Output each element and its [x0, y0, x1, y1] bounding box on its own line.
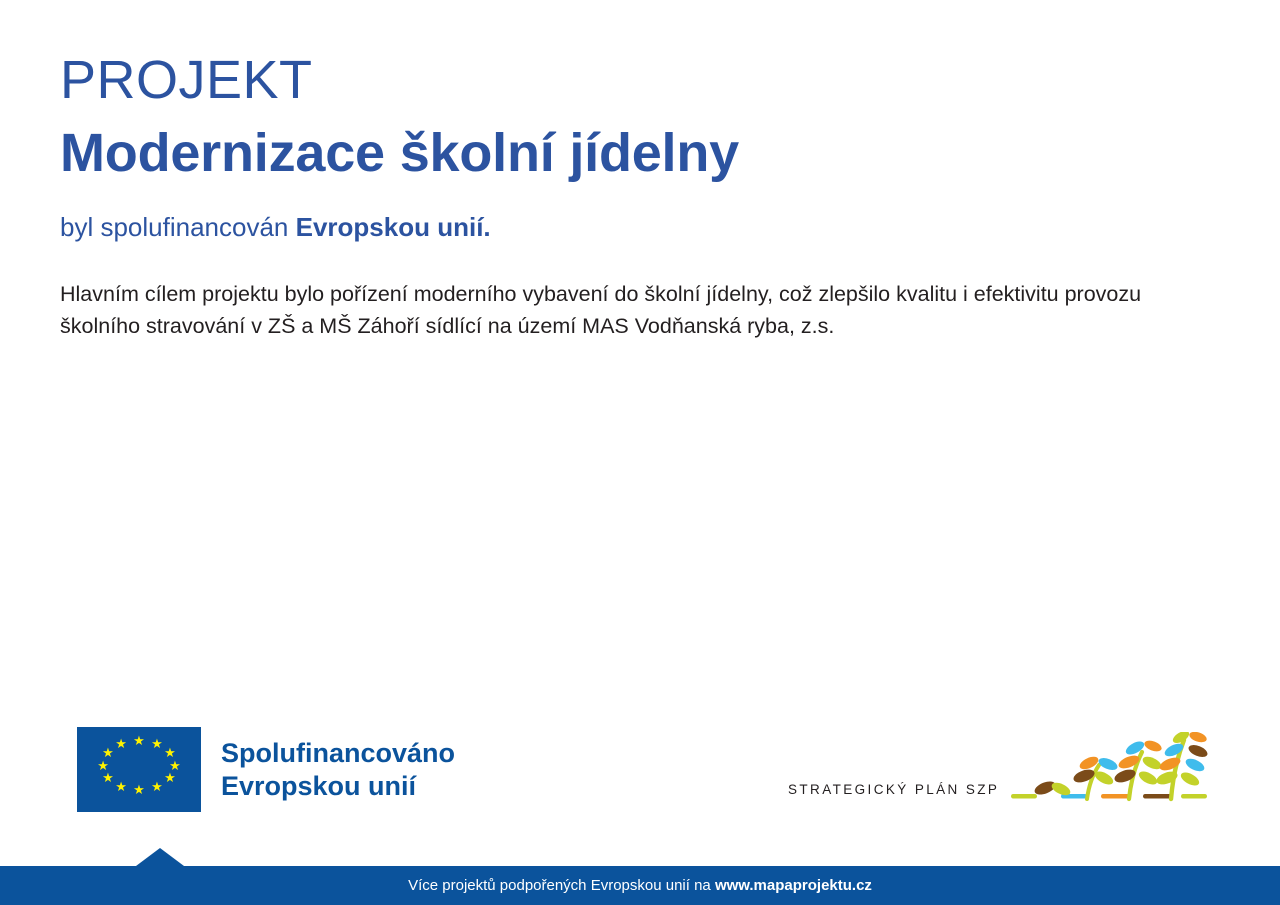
- text-block: PROJEKT Modernizace školní jídelny byl s…: [60, 52, 1235, 342]
- poster-page: PROJEKT Modernizace školní jídelny byl s…: [0, 0, 1280, 905]
- footer-message: Více projektů podpořených Evropskou unií…: [0, 866, 1280, 905]
- strategic-plan-logo: STRATEGICKÝ PLÁN SZP: [788, 735, 1209, 815]
- funding-statement-lead: byl spolufinancován: [60, 212, 296, 242]
- eu-star-icon: ★: [115, 781, 127, 793]
- eu-star-icon: ★: [115, 738, 127, 750]
- eu-star-icon: ★: [151, 781, 163, 793]
- eu-star-icon: ★: [102, 747, 114, 759]
- footer-message-lead: Více projektů podpořených Evropskou unií…: [408, 877, 715, 894]
- project-title: Modernizace školní jídelny: [60, 123, 1235, 183]
- eu-star-icon: ★: [102, 772, 114, 784]
- eu-star-icon: ★: [97, 760, 109, 772]
- project-kicker: PROJEKT: [60, 52, 1235, 109]
- footer-url[interactable]: www.mapaprojektu.cz: [715, 877, 872, 894]
- growing-plants-icon: [1009, 732, 1209, 815]
- footer-bar: Více projektů podpořených Evropskou unií…: [0, 866, 1280, 905]
- eu-flag-icon: ★ ★ ★ ★ ★ ★ ★ ★ ★ ★ ★ ★: [77, 727, 201, 812]
- footer-notch: [136, 848, 184, 866]
- strategic-plan-wordmark: STRATEGICKÝ PLÁN SZP: [788, 782, 999, 815]
- eu-star-icon: ★: [151, 738, 163, 750]
- eu-logo-caption-line2: Evropskou unií: [221, 770, 455, 803]
- project-description: Hlavním cílem projektu bylo pořízení mod…: [60, 278, 1225, 343]
- eu-logo-caption-line1: Spolufinancováno: [221, 737, 455, 770]
- eu-star-icon: ★: [133, 735, 145, 747]
- funding-statement: byl spolufinancován Evropskou unií.: [60, 211, 1235, 244]
- eu-funding-logo: ★ ★ ★ ★ ★ ★ ★ ★ ★ ★ ★ ★ Spolufinancováno…: [77, 727, 455, 812]
- eu-star-icon: ★: [164, 772, 176, 784]
- eu-star-icon: ★: [133, 784, 145, 796]
- eu-logo-caption: Spolufinancováno Evropskou unií: [221, 737, 455, 803]
- logo-row: ★ ★ ★ ★ ★ ★ ★ ★ ★ ★ ★ ★ Spolufinancováno…: [0, 715, 1280, 830]
- funding-statement-emphasis: Evropskou unií.: [296, 212, 491, 242]
